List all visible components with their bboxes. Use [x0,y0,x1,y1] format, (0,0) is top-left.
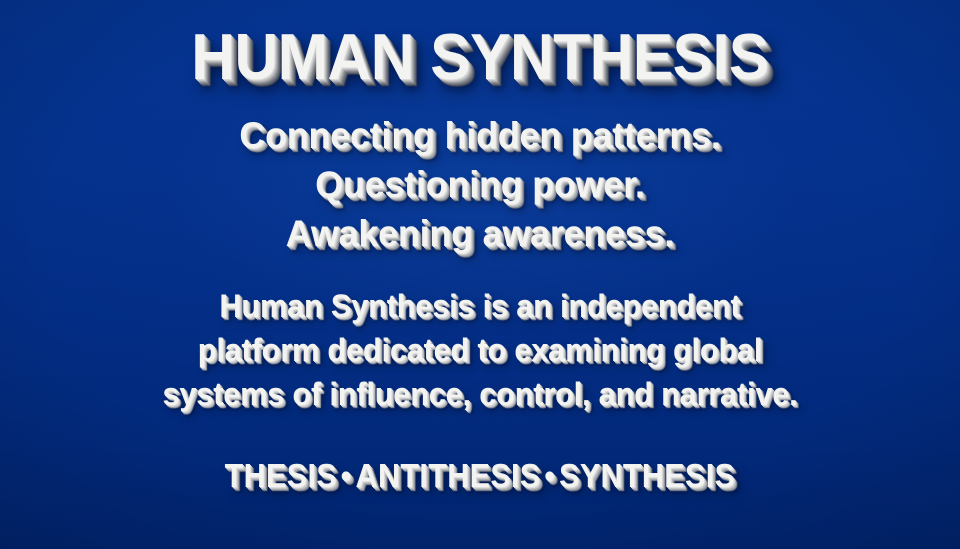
description-block: Human Synthesis is an independent platfo… [0,284,960,416]
motto-line: THESIS•ANTITHESIS•SYNTHESIS [38,456,921,496]
description-line-1: Human Synthesis is an independent [19,284,941,328]
tagline-line-3: Awakening awareness. [14,209,945,258]
bullet-separator-icon: • [541,457,559,494]
poster-content: HUMAN SYNTHESIS Connecting hidden patter… [0,0,960,496]
description-line-3: systems of influence, control, and narra… [19,372,941,416]
tagline-block: Connecting hidden patterns. Questioning … [0,111,960,258]
tagline-line-1: Connecting hidden patterns. [14,111,945,160]
motto-item-antithesis: ANTITHESIS [356,457,541,494]
tagline-line-2: Questioning power. [14,160,945,209]
page-title: HUMAN SYNTHESIS [34,24,927,89]
motto-item-thesis: THESIS [225,457,337,494]
motto-item-synthesis: SYNTHESIS [559,457,735,494]
bullet-separator-icon: • [337,457,355,494]
poster-canvas: HUMAN SYNTHESIS Connecting hidden patter… [0,0,960,549]
description-line-2: platform dedicated to examining global [19,328,941,372]
